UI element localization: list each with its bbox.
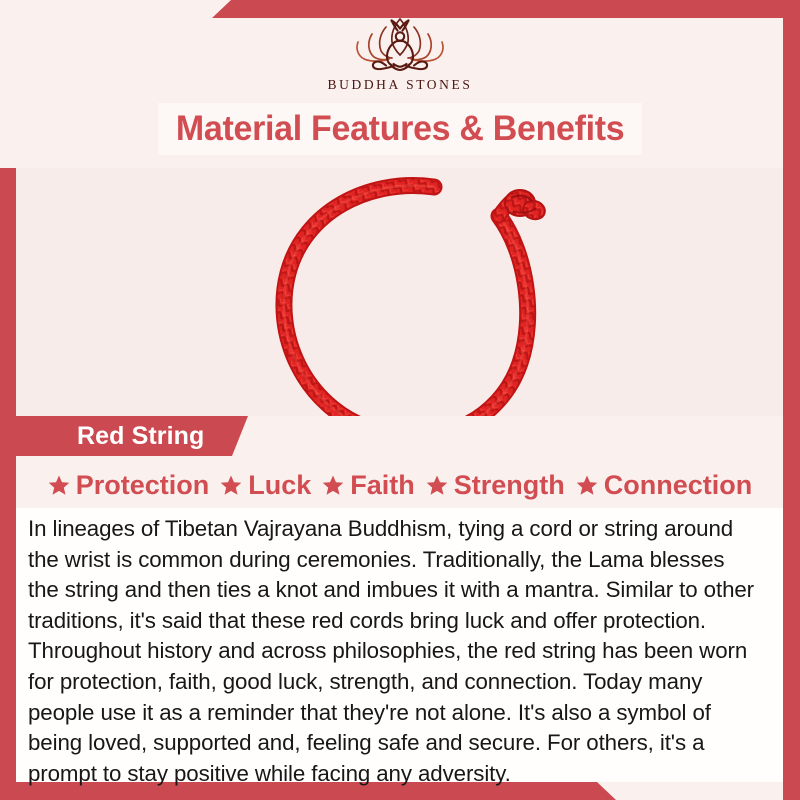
red-string-bracelet-image <box>248 168 578 416</box>
star-icon <box>575 473 599 497</box>
page-title: Material Features & Benefits <box>176 109 624 149</box>
description-panel: In lineages of Tibetan Vajrayana Buddhis… <box>16 508 783 782</box>
frame-left-strip-upper <box>0 168 16 408</box>
benefit-item: Strength <box>420 470 570 501</box>
benefits-row: Protection Luck Faith S <box>16 466 783 504</box>
star-icon <box>321 473 345 497</box>
material-ribbon: Red String <box>16 416 248 456</box>
benefit-label: Faith <box>350 470 415 501</box>
material-name: Red String <box>16 422 204 451</box>
bracelet-knot <box>505 190 547 222</box>
frame-left-strip <box>0 400 16 782</box>
star-icon <box>425 473 449 497</box>
benefit-label: Luck <box>248 470 311 501</box>
benefit-item: Connection <box>570 470 758 501</box>
frame-right-strip <box>783 18 800 800</box>
benefit-label: Protection <box>76 470 210 501</box>
benefit-item: Luck <box>214 470 316 501</box>
benefit-label: Connection <box>604 470 753 501</box>
page-title-band: Material Features & Benefits <box>158 103 642 155</box>
brand-header: BUDDHA STONES <box>0 0 800 103</box>
benefit-item: Faith <box>316 470 420 501</box>
star-icon <box>47 473 71 497</box>
lotus-meditation-icon <box>336 11 464 75</box>
benefit-item: Protection <box>42 470 215 501</box>
description-text: In lineages of Tibetan Vajrayana Buddhis… <box>28 514 761 789</box>
star-icon <box>219 473 243 497</box>
brand-wordmark: BUDDHA STONES <box>328 77 473 93</box>
hero-product-area <box>16 168 783 416</box>
benefit-label: Strength <box>454 470 565 501</box>
poster-root: BUDDHA STONES Material Features & Benefi… <box>0 0 800 800</box>
